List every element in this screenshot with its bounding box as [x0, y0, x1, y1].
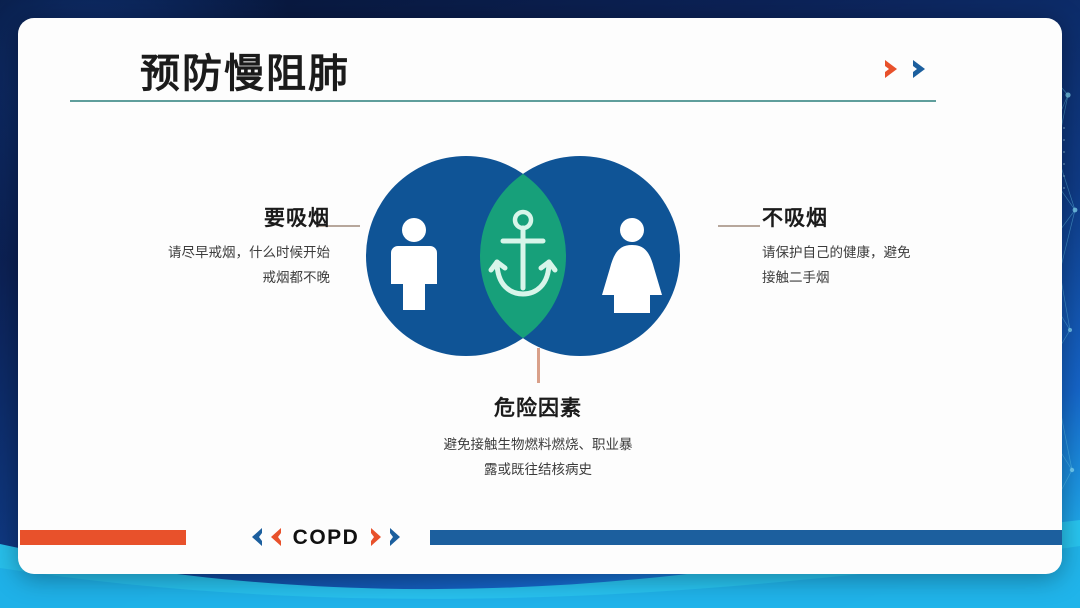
footer-bar-left: [20, 530, 186, 545]
venn-diagram: [348, 146, 698, 366]
info-block-nonsmoking-body: 请保护自己的健康，避免 接触二手烟: [762, 241, 1012, 291]
connector-line-right: [718, 225, 760, 227]
info-block-risk-factors-title: 危险因素: [388, 398, 688, 419]
info-block-nonsmoking: 不吸烟 请保护自己的健康，避免 接触二手烟: [762, 208, 1012, 291]
connector-line-bottom: [537, 348, 540, 383]
footer-chevron-group-right: [367, 526, 404, 548]
info-block-risk-factors-body: 避免接触生物燃料燃烧、职业暴 露或既往结核病史: [388, 433, 688, 483]
chevron-right-blue-icon: [908, 56, 934, 82]
header-divider: [70, 100, 936, 102]
chevron-right-blue-icon: [386, 526, 404, 548]
slide-footer: COPD: [18, 524, 1062, 550]
info-block-smoking-body: 请尽早戒烟，什么时候开始 戒烟都不晚: [80, 241, 330, 291]
footer-brand: COPD: [226, 524, 426, 550]
footer-bar-right: [430, 530, 1062, 545]
chevron-left-blue-icon: [248, 526, 266, 548]
footer-label: COPD: [293, 527, 360, 548]
chevron-right-orange-icon: [880, 56, 906, 82]
slide-card: 预防慢阻肺: [18, 18, 1062, 574]
footer-chevron-group-left: [248, 526, 285, 548]
info-block-smoking-title: 要吸烟: [80, 208, 330, 229]
chevron-left-orange-icon: [267, 526, 285, 548]
info-block-smoking: 要吸烟 请尽早戒烟，什么时候开始 戒烟都不晚: [80, 208, 330, 291]
page-title: 预防慢阻肺: [140, 54, 350, 94]
info-block-risk-factors: 危险因素 避免接触生物燃料燃烧、职业暴 露或既往结核病史: [388, 398, 688, 483]
slide-canvas: 预防慢阻肺: [0, 0, 1080, 608]
info-block-nonsmoking-title: 不吸烟: [762, 208, 1012, 229]
header-arrow-group: [880, 56, 934, 82]
chevron-right-orange-icon: [367, 526, 385, 548]
